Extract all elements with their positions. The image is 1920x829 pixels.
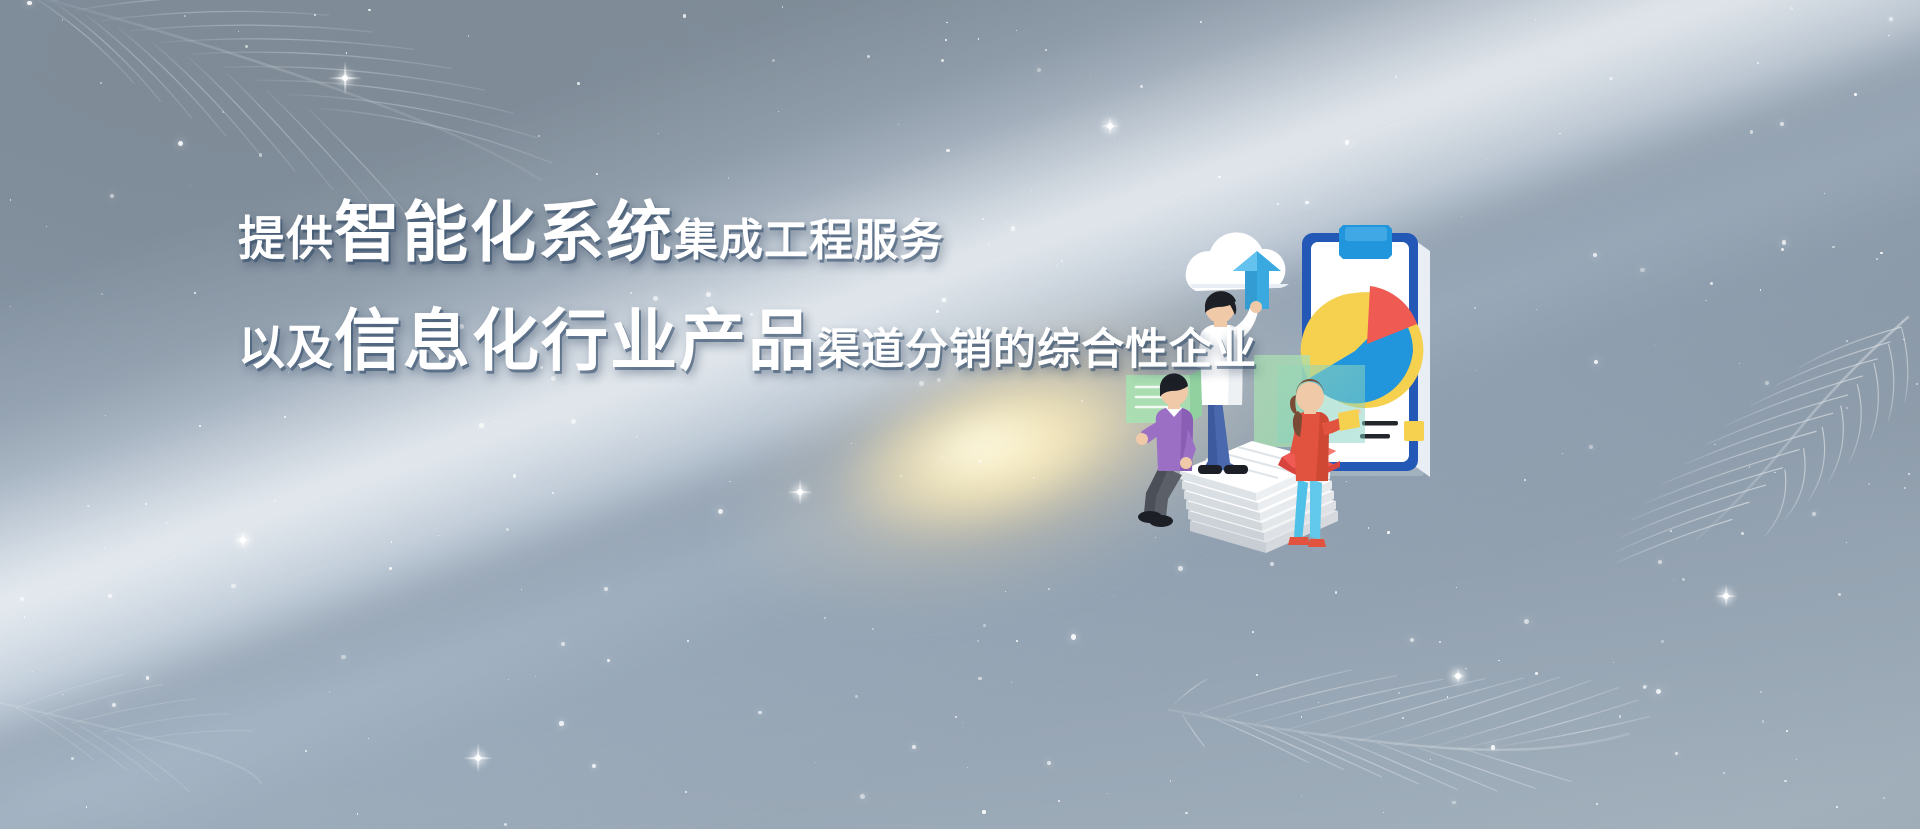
hero-banner: 提供 智能化系统 集成工程服务 以及 信息化行业产品 渠道分销的综合性企业 (0, 0, 1920, 829)
headline-line2-part2: 信息化行业产品 (334, 303, 817, 380)
headline-line1-part1: 提供 (238, 212, 334, 266)
headline-block: 提供 智能化系统 集成工程服务 以及 信息化行业产品 渠道分销的综合性企业 (238, 195, 1257, 380)
headline-line1-part3: 集成工程服务 (674, 216, 944, 267)
headline-line-1: 提供 智能化系统 集成工程服务 (238, 195, 1257, 271)
headline-line2-part3: 渠道分销的综合性企业 (817, 326, 1257, 375)
headline-line2-part1: 以及 (238, 321, 334, 375)
headline-line-2: 以及 信息化行业产品 渠道分销的综合性企业 (238, 303, 1257, 380)
headline-line1-part2: 智能化系统 (334, 195, 674, 271)
